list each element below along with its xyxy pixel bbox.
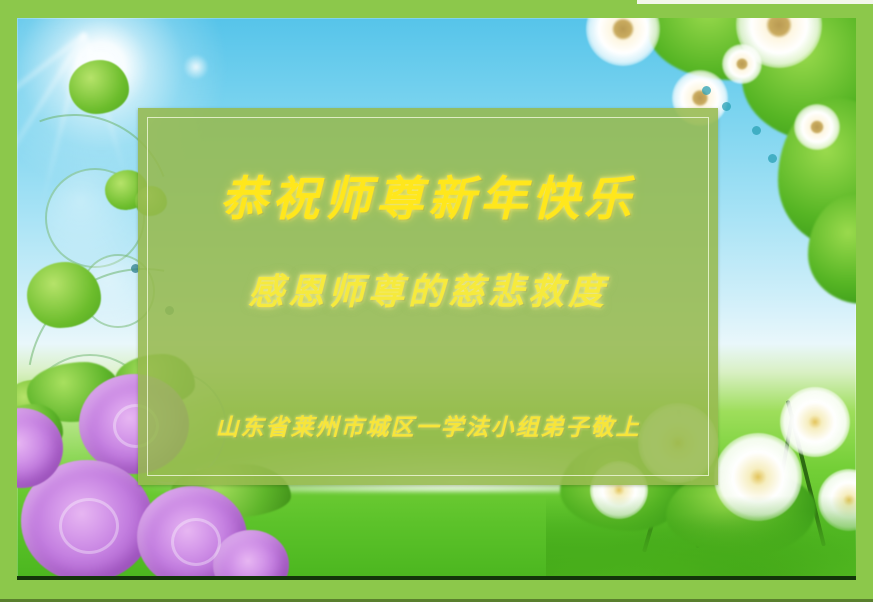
rose-core-icon <box>59 498 119 554</box>
dot-icon <box>722 102 731 111</box>
signature-line: 山东省莱州市城区一学法小组弟子敬上 <box>138 408 718 442</box>
grass-foreground <box>546 496 856 580</box>
rose-core-icon <box>171 518 221 566</box>
lily-flower-icon <box>780 387 850 457</box>
top-right-white-strip <box>637 0 873 4</box>
leaf-blob-icon <box>27 262 101 328</box>
daisy-flower-icon <box>586 18 660 66</box>
dot-icon <box>752 126 761 135</box>
leaf-blob-icon <box>69 60 129 114</box>
greeting-slide: 恭祝师尊新年快乐 感恩师尊的慈悲救度 山东省莱州市城区一学法小组弟子敬上 <box>0 0 873 602</box>
dot-icon <box>768 154 777 163</box>
text-panel: 恭祝师尊新年快乐 感恩师尊的慈悲救度 山东省莱州市城区一学法小组弟子敬上 <box>138 108 718 485</box>
picture-bottom-line <box>17 576 856 580</box>
panel-content: 恭祝师尊新年快乐 感恩师尊的慈悲救度 山东省莱州市城区一学法小组弟子敬上 <box>138 108 718 485</box>
dot-icon <box>702 86 711 95</box>
page-subtitle: 感恩师尊的慈悲救度 <box>248 263 608 315</box>
daisy-flower-icon <box>794 104 840 150</box>
sun-lens-flare-icon <box>183 54 209 80</box>
page-title: 恭祝师尊新年快乐 <box>220 160 636 229</box>
daisy-flower-icon <box>722 44 762 84</box>
